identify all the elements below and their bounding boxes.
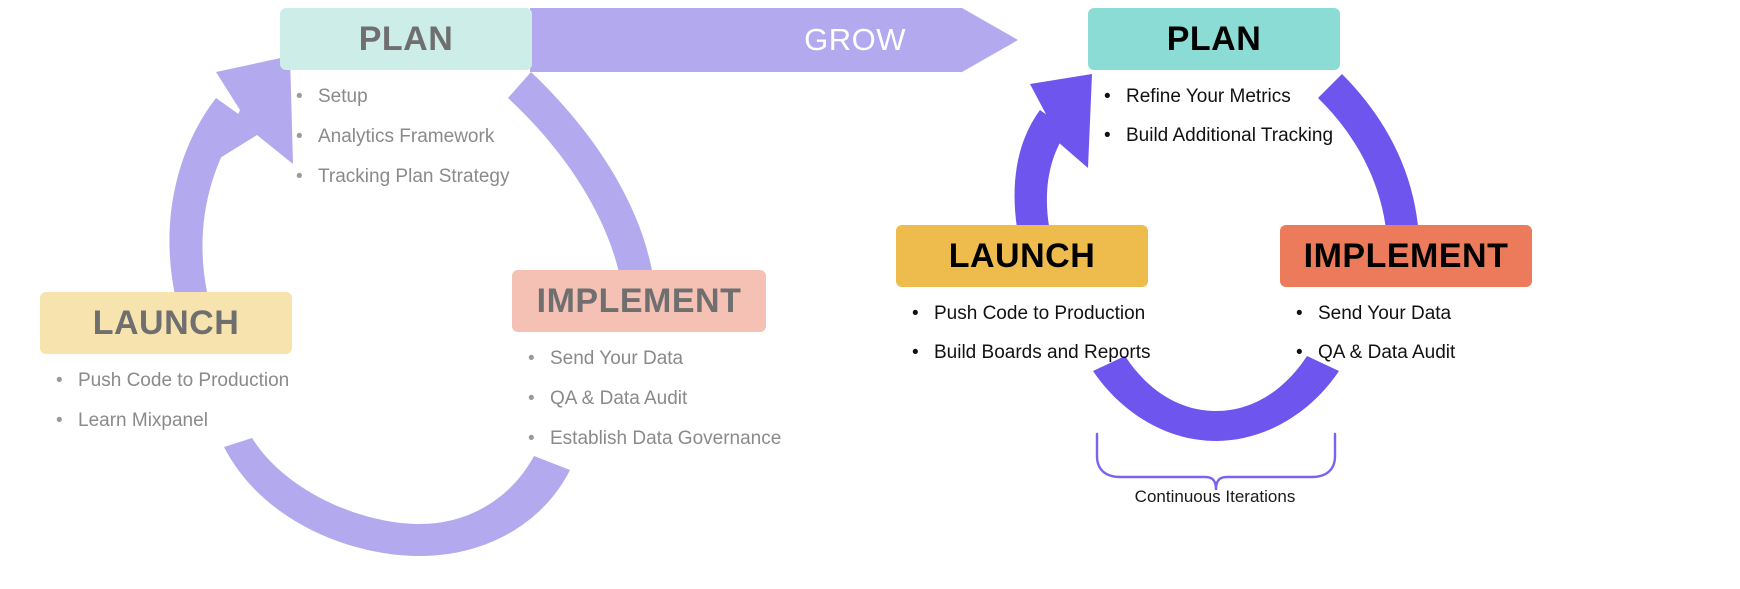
phase-implement-right-title: IMPLEMENT	[1280, 225, 1532, 287]
phase-implement-right[interactable]: IMPLEMENT • Send Your Data • QA & Data A…	[1280, 225, 1532, 381]
list-item: • Setup	[296, 86, 532, 109]
grow-label: GROW	[804, 8, 906, 72]
continuous-iterations-label: Continuous Iterations	[1085, 487, 1345, 507]
grow-banner: GROW	[530, 8, 1018, 72]
list-item: • Build Additional Tracking	[1104, 125, 1340, 148]
list-item-label: Send Your Data	[1318, 303, 1451, 326]
list-item-label: Push Code to Production	[934, 303, 1145, 326]
list-item: • Send Your Data	[1296, 303, 1532, 326]
list-item-label: QA & Data Audit	[550, 388, 687, 411]
list-item-label: Learn Mixpanel	[78, 410, 208, 433]
list-item-label: Tracking Plan Strategy	[318, 166, 510, 189]
phase-plan-left[interactable]: PLAN • Setup • Analytics Framework • Tra…	[280, 8, 532, 205]
phase-launch-right[interactable]: LAUNCH • Push Code to Production • Build…	[896, 225, 1148, 381]
phase-plan-left-items: • Setup • Analytics Framework • Tracking…	[280, 86, 532, 188]
list-item: • Send Your Data	[528, 348, 766, 371]
list-item-label: Push Code to Production	[78, 370, 289, 393]
list-item-label: Establish Data Governance	[550, 428, 781, 451]
bullet-icon: •	[528, 348, 550, 371]
phase-plan-right[interactable]: PLAN • Refine Your Metrics • Build Addit…	[1088, 8, 1340, 164]
list-item-label: Analytics Framework	[318, 126, 494, 149]
bullet-icon: •	[1104, 86, 1126, 109]
arc-launch-to-plan-left	[169, 98, 244, 295]
phase-launch-left-title: LAUNCH	[40, 292, 292, 354]
phase-implement-left[interactable]: IMPLEMENT • Send Your Data • QA & Data A…	[512, 270, 766, 467]
list-item: • Tracking Plan Strategy	[296, 166, 532, 189]
phase-implement-left-items: • Send Your Data • QA & Data Audit • Est…	[512, 348, 766, 450]
phase-launch-right-title: LAUNCH	[896, 225, 1148, 287]
phase-plan-right-items: • Refine Your Metrics • Build Additional…	[1088, 86, 1340, 148]
phase-launch-right-items: • Push Code to Production • Build Boards…	[896, 303, 1148, 365]
list-item: • Push Code to Production	[912, 303, 1148, 326]
list-item-label: Refine Your Metrics	[1126, 86, 1291, 109]
list-item-label: QA & Data Audit	[1318, 342, 1455, 365]
phase-launch-left[interactable]: LAUNCH • Push Code to Production • Learn…	[40, 292, 292, 450]
list-item-label: Send Your Data	[550, 348, 683, 371]
bullet-icon: •	[56, 410, 78, 433]
bullet-icon: •	[296, 166, 318, 189]
bullet-icon: •	[528, 428, 550, 451]
arc-launch-to-plan-right	[1015, 110, 1068, 228]
bullet-icon: •	[912, 303, 934, 326]
list-item: • QA & Data Audit	[528, 388, 766, 411]
bullet-icon: •	[1296, 303, 1318, 326]
bullet-icon: •	[1296, 342, 1318, 365]
continuous-iterations-brace	[1097, 434, 1335, 490]
list-item-label: Build Boards and Reports	[934, 342, 1151, 365]
list-item-label: Setup	[318, 86, 368, 109]
bullet-icon: •	[296, 126, 318, 149]
phase-plan-right-title: PLAN	[1088, 8, 1340, 70]
bullet-icon: •	[296, 86, 318, 109]
bullet-icon: •	[56, 370, 78, 393]
phase-launch-left-items: • Push Code to Production • Learn Mixpan…	[40, 370, 292, 433]
list-item: • Push Code to Production	[56, 370, 292, 393]
list-item: • Analytics Framework	[296, 126, 532, 149]
list-item: • Learn Mixpanel	[56, 410, 292, 433]
list-item: • Establish Data Governance	[528, 428, 766, 451]
diagram-canvas: GROW PLAN • Setup • Analytics Framework …	[0, 0, 1740, 589]
phase-implement-left-title: IMPLEMENT	[512, 270, 766, 332]
list-item: • Refine Your Metrics	[1104, 86, 1340, 109]
list-item: • Build Boards and Reports	[912, 342, 1148, 365]
bullet-icon: •	[528, 388, 550, 411]
list-item: • QA & Data Audit	[1296, 342, 1532, 365]
bullet-icon: •	[1104, 125, 1126, 148]
phase-implement-right-items: • Send Your Data • QA & Data Audit	[1280, 303, 1532, 365]
arrowhead-plan-right	[1030, 74, 1092, 168]
phase-plan-left-title: PLAN	[280, 8, 532, 70]
list-item-label: Build Additional Tracking	[1126, 125, 1333, 148]
bullet-icon: •	[912, 342, 934, 365]
